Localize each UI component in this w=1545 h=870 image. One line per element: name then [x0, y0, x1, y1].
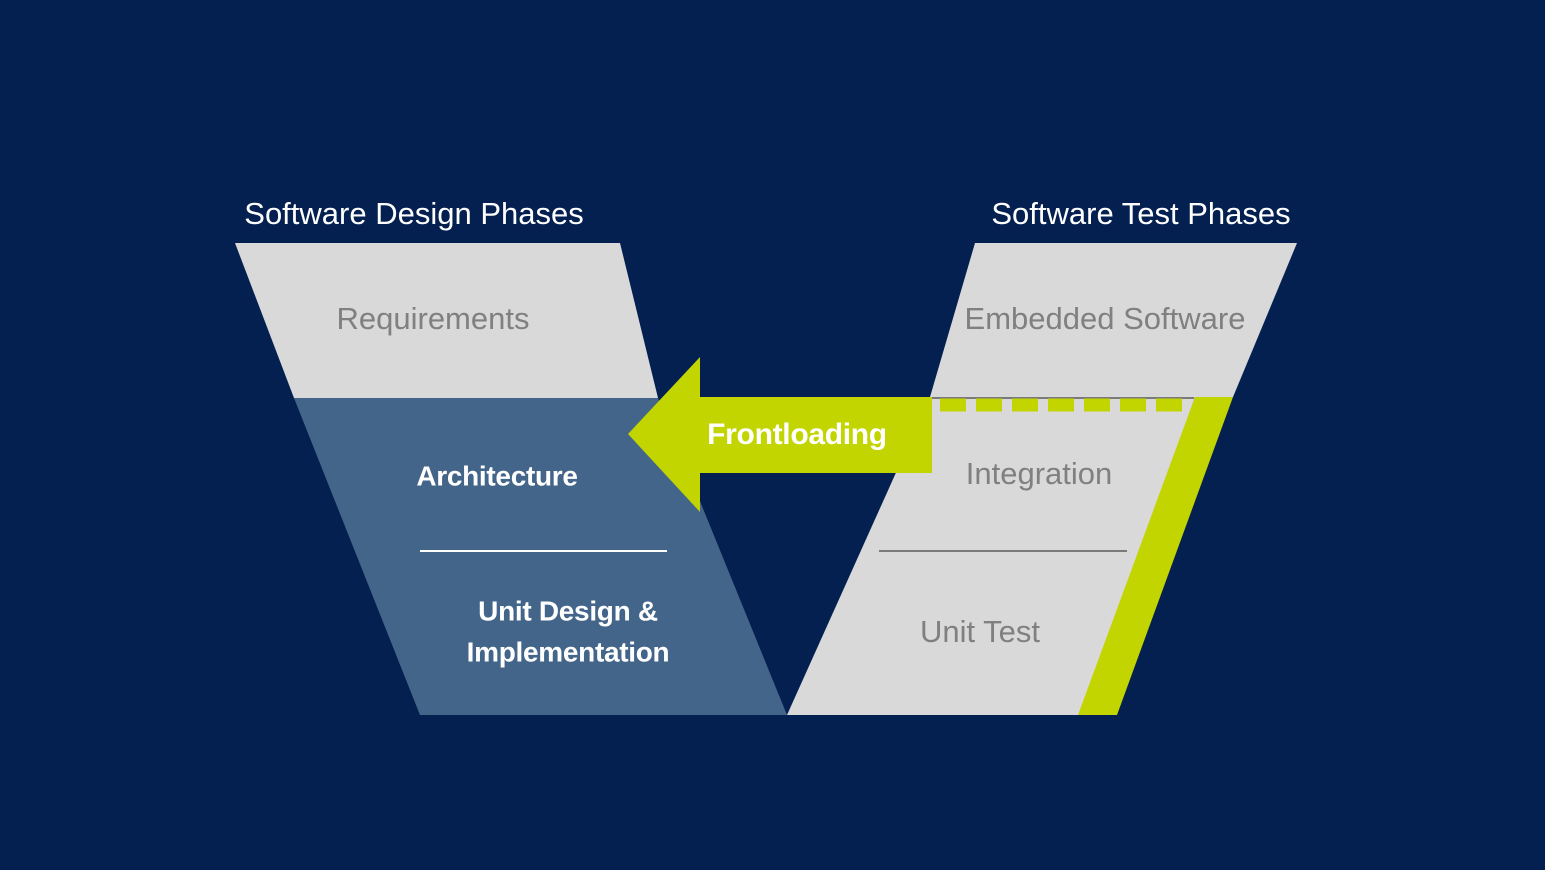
frontloading-arrow-label: Frontloading — [707, 418, 887, 451]
stage-label-requirements: Requirements — [337, 301, 530, 336]
stage-label-integration: Integration — [966, 456, 1113, 491]
diagram-canvas: Software Design Phases Requirements Arch… — [0, 0, 1545, 870]
stage-label-architecture: Architecture — [416, 460, 577, 491]
right-branch-heading: Software Test Phases — [991, 196, 1290, 231]
stage-label-unit-design-line2: Implementation — [467, 636, 670, 667]
v-model-diagram: Software Design Phases Requirements Arch… — [0, 0, 1545, 870]
stage-label-embedded-software: Embedded Software — [965, 301, 1246, 336]
left-branch-heading: Software Design Phases — [244, 196, 583, 231]
stage-label-unit-test: Unit Test — [920, 614, 1040, 649]
stage-label-unit-design-line1: Unit Design & — [478, 595, 658, 626]
